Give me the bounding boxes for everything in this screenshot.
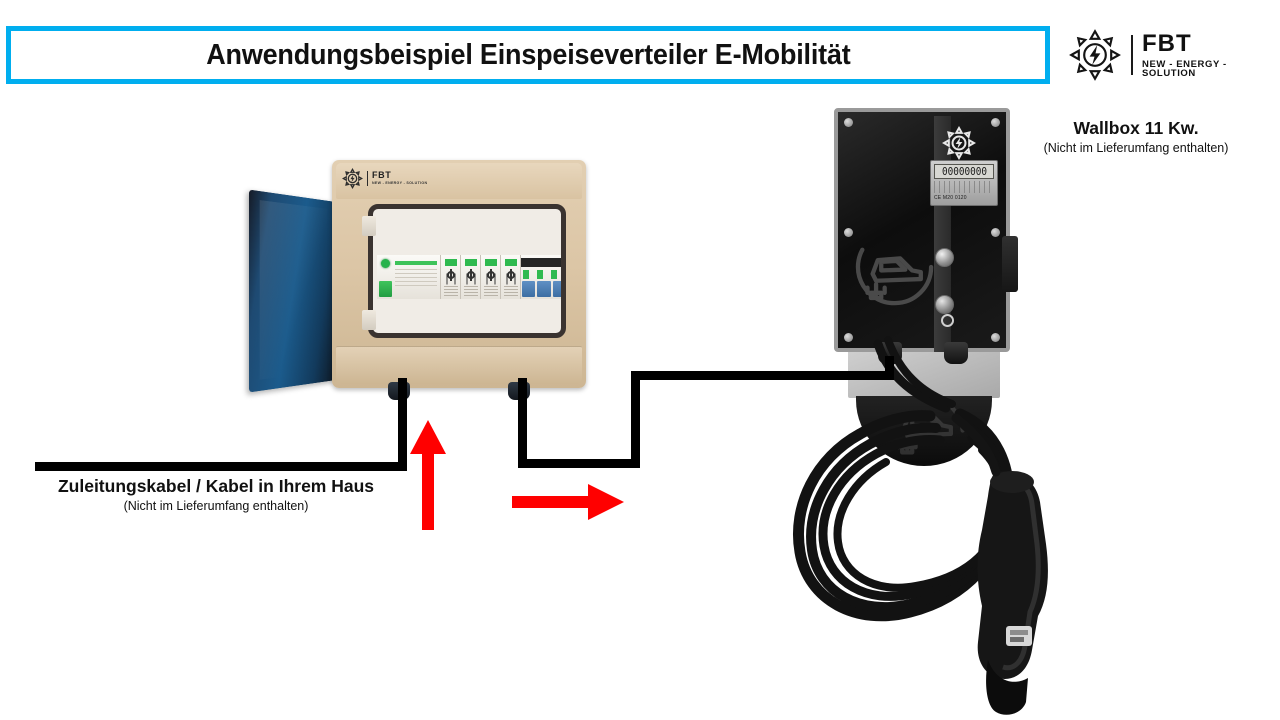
gear-icon	[445, 269, 457, 281]
logo-divider	[367, 171, 368, 186]
spd-label-lines	[504, 286, 518, 296]
rcd-label-lines	[395, 269, 437, 289]
supply-cable-caption: Zuleitungskabel / Kabel in Ihrem Haus (N…	[18, 476, 414, 513]
spd-module[interactable]	[461, 255, 481, 299]
meter-digits: 00000000	[941, 165, 986, 178]
box-enclosure: FBT NEW - ENERGY - SOLUTION	[332, 160, 586, 388]
diagram-canvas: Anwendungsbeispiel Einspeiseverteiler E-…	[0, 0, 1280, 720]
spd-label-lines	[444, 286, 458, 296]
mcb-indicators	[523, 270, 565, 279]
wallbox-indicator-knob[interactable]	[935, 248, 954, 267]
sun-lightning-icon	[1068, 28, 1122, 82]
box-brand-logo: FBT NEW - ENERGY - SOLUTION	[342, 168, 427, 189]
brand-logo: FBT NEW - ENERGY - SOLUTION	[1068, 27, 1274, 83]
distribution-box: FBT NEW - ENERGY - SOLUTION	[332, 160, 586, 392]
spd-status-window	[465, 259, 477, 266]
spd-module[interactable]	[441, 255, 461, 299]
screw-icon	[844, 118, 853, 127]
wallbox-caption-note: (Nicht im Lieferumfang enthalten)	[1000, 141, 1272, 155]
box-logo-tagline: NEW - ENERGY - SOLUTION	[372, 182, 427, 186]
meter-lcd: 00000000	[934, 164, 994, 179]
red-arrow-up	[408, 420, 448, 530]
spd-status-window	[505, 259, 517, 266]
gear-icon	[505, 269, 517, 281]
spd-status-window	[485, 259, 497, 266]
sun-lightning-icon	[342, 168, 363, 189]
meter-certification-text: CE M20 0120	[934, 195, 994, 201]
meter-scale	[934, 181, 994, 193]
mcb-top-bar	[521, 258, 566, 267]
supply-cable-caption-title: Zuleitungskabel / Kabel in Ihrem Haus	[18, 476, 414, 497]
charging-cable	[760, 330, 1100, 720]
supply-cable-line-horizontal	[35, 462, 407, 471]
logo-wordmark: FBT	[1142, 32, 1274, 56]
box-output-line-up	[631, 371, 640, 468]
spd-label-lines	[464, 286, 478, 296]
din-rail	[377, 255, 566, 299]
energy-meter: 00000000 CE M20 0120	[930, 160, 998, 206]
wallbox-side-holder	[1002, 236, 1018, 292]
spd-label-lines	[484, 286, 498, 296]
rcd-green-bar	[395, 261, 437, 265]
wallbox-front-panel: 00000000 CE M20 0120	[834, 108, 1010, 352]
mcb-module[interactable]	[521, 255, 566, 299]
box-logo-wordmark: FBT	[372, 171, 427, 180]
page-title: Anwendungsbeispiel Einspeiseverteiler E-…	[206, 39, 850, 72]
supply-cable-line-vertical	[398, 378, 407, 466]
wallbox-caption-title: Wallbox 11 Kw.	[1000, 118, 1272, 139]
rcd-status-led	[381, 259, 390, 268]
box-bottom-band	[336, 346, 582, 384]
logo-divider	[1131, 35, 1133, 75]
title-banner: Anwendungsbeispiel Einspeiseverteiler E-…	[6, 26, 1050, 84]
supply-cable-caption-note: (Nicht im Lieferumfang enthalten)	[18, 499, 414, 513]
lock-icon[interactable]	[935, 295, 954, 314]
red-arrow-right	[512, 482, 624, 522]
wallbox-feed-line-down	[885, 356, 894, 380]
screw-icon	[991, 118, 1000, 127]
mcb-levers[interactable]	[522, 281, 566, 297]
wallbox-caption: Wallbox 11 Kw. (Nicht im Lieferumfang en…	[1000, 118, 1272, 155]
gear-icon	[465, 269, 477, 281]
box-output-line-down	[518, 378, 527, 468]
box-output-line-right	[518, 459, 640, 468]
box-latch-bottom[interactable]	[362, 310, 376, 330]
wallbox-feed-line-right	[631, 371, 894, 380]
box-viewing-window	[368, 204, 566, 338]
screw-icon	[991, 228, 1000, 237]
spd-module[interactable]	[501, 255, 521, 299]
ev-charging-car-icon	[852, 224, 938, 310]
box-door[interactable]	[249, 190, 336, 393]
gear-icon	[485, 269, 497, 281]
box-latch-top[interactable]	[362, 216, 376, 236]
spd-status-window	[445, 259, 457, 266]
spd-module[interactable]	[481, 255, 501, 299]
logo-tagline: NEW - ENERGY - SOLUTION	[1142, 60, 1274, 79]
rcd-lever[interactable]	[379, 281, 392, 297]
sun-lightning-icon	[942, 126, 976, 160]
rcd-module[interactable]	[377, 255, 441, 299]
